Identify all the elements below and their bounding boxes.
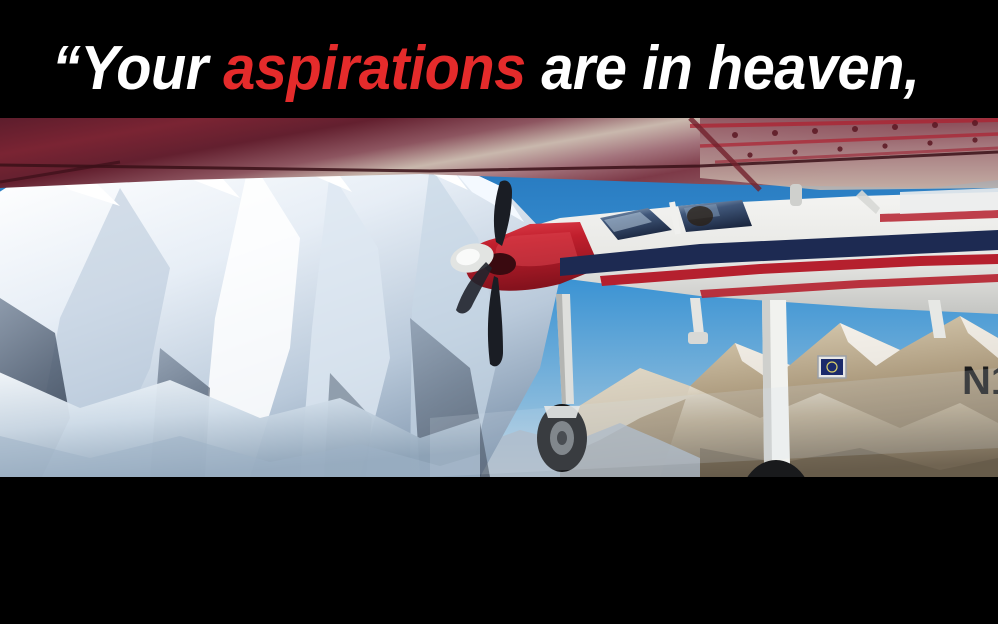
tail-section bbox=[900, 188, 998, 214]
quote-accent-word: aspirations bbox=[223, 34, 526, 103]
quote-slide: N1 bbox=[0, 0, 998, 624]
eu-flag-emblem bbox=[818, 356, 846, 378]
quote-text-before-accent: Your bbox=[80, 34, 223, 103]
open-quote-mark: “ bbox=[52, 34, 80, 103]
photo-illustration: N1 bbox=[0, 118, 998, 477]
quote-line-1: “Your aspirations are in heaven, bbox=[52, 33, 919, 105]
wing-fitting bbox=[790, 184, 802, 206]
aircraft-mountain-photo: N1 bbox=[0, 118, 998, 477]
pilot-silhouette bbox=[687, 206, 713, 226]
top-text-band: “Your aspirations are in heaven, bbox=[0, 0, 998, 118]
bottom-text-band: but your brains are in your feet.” Afgha… bbox=[0, 477, 998, 624]
quote-text-after-accent: are in heaven, bbox=[526, 34, 920, 103]
